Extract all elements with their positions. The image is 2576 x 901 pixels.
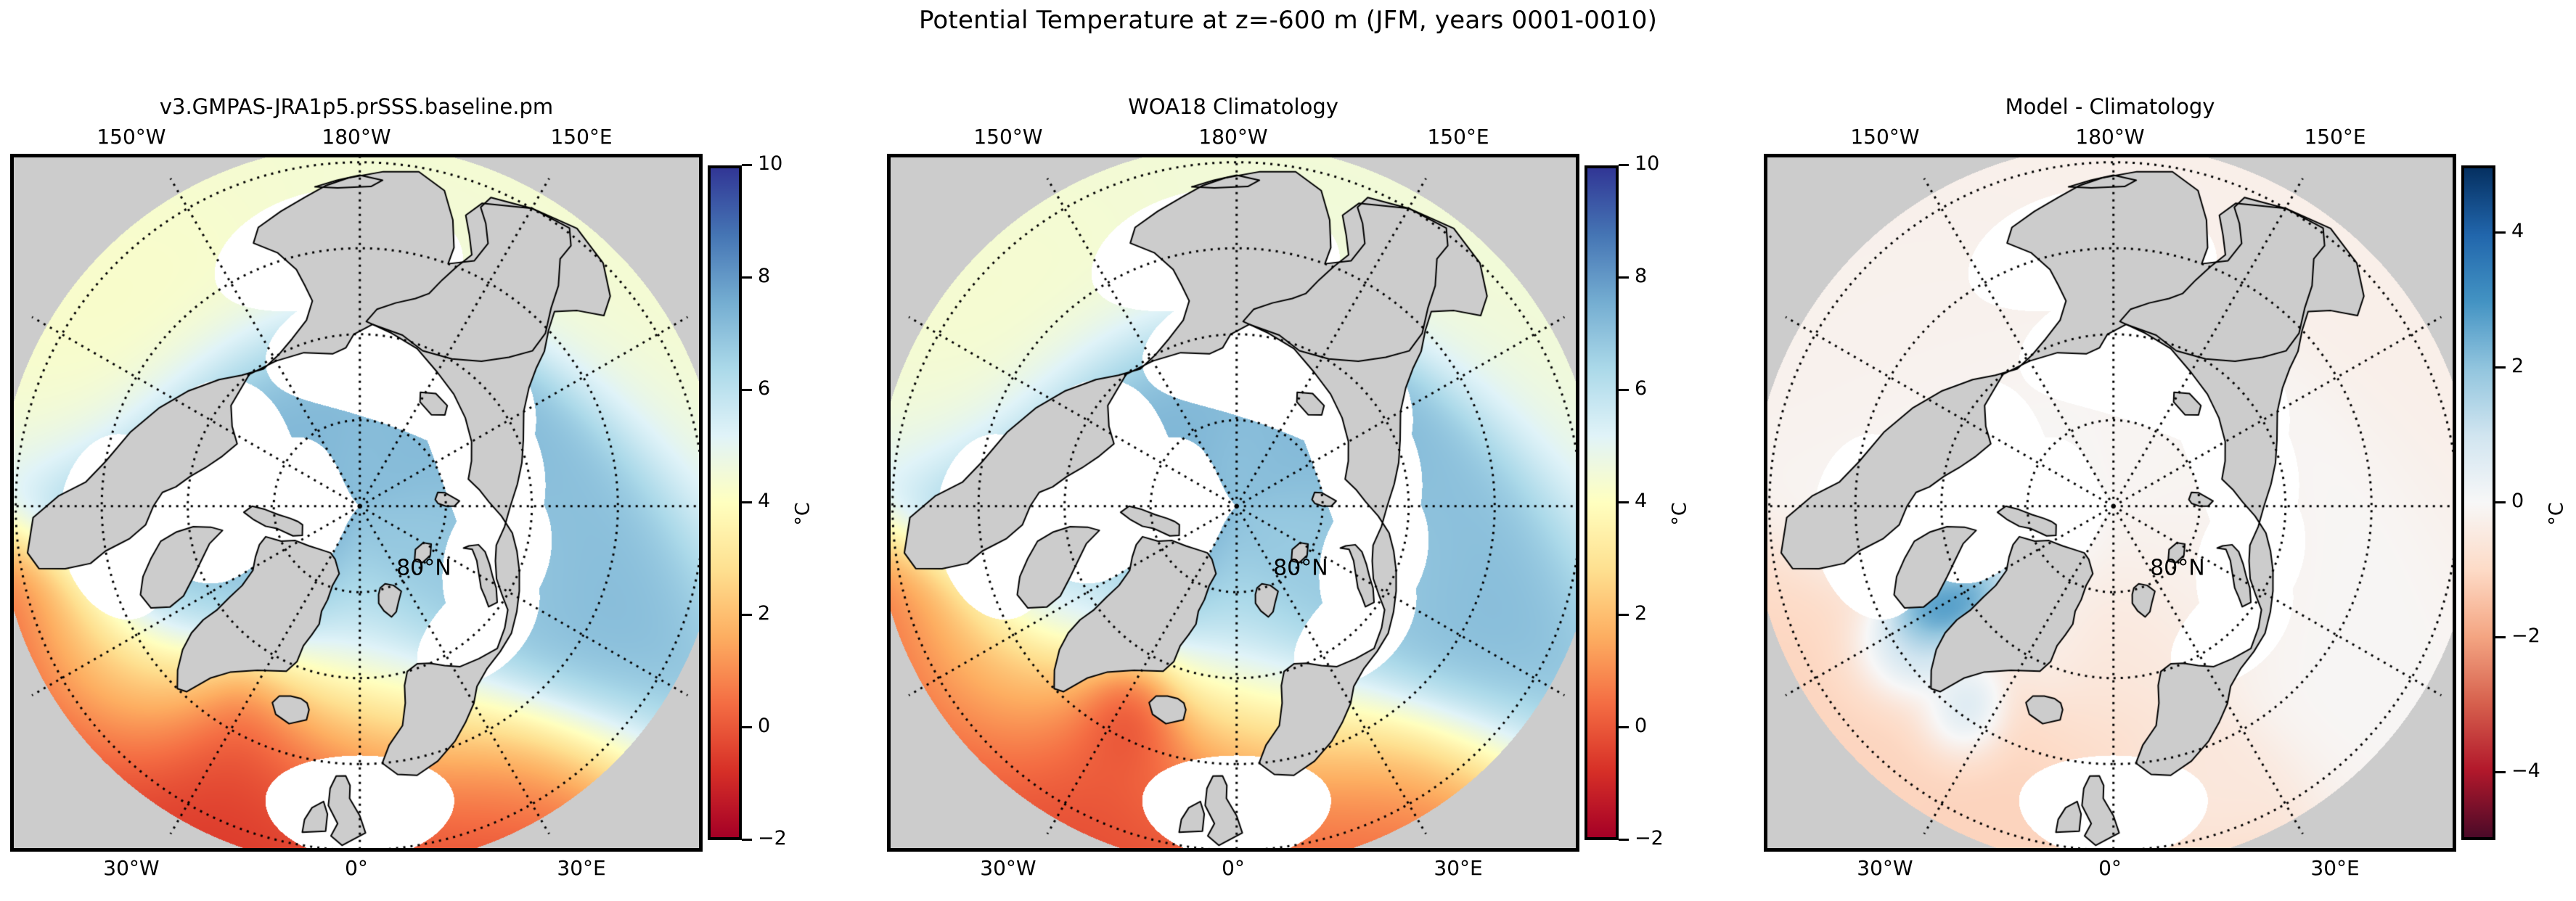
lon-labels-bottom-difference: 30°W 0° 30°E <box>1764 856 2456 881</box>
tick-mark <box>742 164 752 166</box>
tick-mark <box>742 726 752 728</box>
colorbar-ticks-model: −20246810 <box>742 165 829 840</box>
lon-label-30w: 30°W <box>1857 856 1913 880</box>
lon-label-30e: 30°E <box>1434 856 1482 880</box>
colorbar-unit-model: °C <box>792 502 814 525</box>
lon-label-150w: 150°W <box>1850 125 1919 149</box>
tick-mark <box>1619 389 1629 391</box>
lon-labels-top-climatology: 150°W 180°W 150°E <box>887 125 1579 149</box>
lon-label-150e: 150°E <box>2304 125 2366 149</box>
lon-label-180w: 180°W <box>2075 125 2144 149</box>
panel-title-difference: Model - Climatology <box>1764 94 2456 119</box>
lon-labels-bottom-model: 30°W 0° 30°E <box>10 856 703 881</box>
tick-label: 8 <box>1635 265 1647 287</box>
tick-mark <box>1619 276 1629 279</box>
colorbar-difference[interactable] <box>2461 165 2495 840</box>
lon-label-150w: 150°W <box>973 125 1042 149</box>
tick-mark <box>2495 366 2506 369</box>
lon-label-180w: 180°W <box>1198 125 1267 149</box>
colorbar-climatology[interactable] <box>1585 165 1619 840</box>
tick-label: 0 <box>1635 715 1647 737</box>
colorbar-model[interactable] <box>708 165 742 840</box>
tick-label: 10 <box>1635 152 1659 175</box>
tick-mark <box>742 614 752 616</box>
tick-label: 10 <box>758 152 782 175</box>
tick-mark <box>1619 726 1629 728</box>
lon-label-0: 0° <box>1222 856 1245 880</box>
tick-mark <box>2495 771 2506 773</box>
tick-mark <box>742 839 752 841</box>
tick-mark <box>1619 614 1629 616</box>
tick-label: 0 <box>2511 490 2524 512</box>
figure-root: Potential Temperature at z=-600 m (JFM, … <box>0 0 2576 901</box>
tick-label: 4 <box>2511 220 2524 242</box>
tick-label: 2 <box>758 602 770 625</box>
colorbar-unit-difference: °C <box>2546 502 2568 525</box>
lon-label-30e: 30°E <box>557 856 605 880</box>
tick-label: −4 <box>2511 760 2540 782</box>
colorbar-ticks-climatology: −20246810 <box>1619 165 1706 840</box>
panel-title-model: v3.GMPAS-JRA1p5.prSSS.baseline.pm <box>10 94 703 119</box>
lon-label-150w: 150°W <box>97 125 165 149</box>
figure-title: Potential Temperature at z=-600 m (JFM, … <box>0 6 2576 35</box>
tick-mark <box>1619 501 1629 503</box>
map-canvas-difference <box>1767 157 2453 848</box>
tick-mark <box>1619 164 1629 166</box>
tick-label: 4 <box>1635 490 1647 512</box>
tick-mark <box>1619 839 1629 841</box>
lon-label-30e: 30°E <box>2310 856 2359 880</box>
tick-label: 6 <box>1635 377 1647 400</box>
tick-label: 4 <box>758 490 770 512</box>
tick-mark <box>2495 501 2506 503</box>
lon-label-150e: 150°E <box>1427 125 1489 149</box>
tick-label: −2 <box>2511 625 2540 647</box>
colorbar-unit-climatology: °C <box>1669 502 1691 525</box>
map-panel-difference[interactable]: 80°N <box>1764 154 2456 852</box>
tick-label: 8 <box>758 265 770 287</box>
lon-label-30w: 30°W <box>980 856 1036 880</box>
lon-labels-bottom-climatology: 30°W 0° 30°E <box>887 856 1579 881</box>
map-canvas-climatology <box>891 157 1576 848</box>
lon-label-30w: 30°W <box>103 856 159 880</box>
tick-label: 6 <box>758 377 770 400</box>
lon-label-150e: 150°E <box>550 125 612 149</box>
map-panel-model[interactable]: 80°N <box>10 154 703 852</box>
tick-label: 2 <box>2511 355 2524 377</box>
tick-mark <box>742 389 752 391</box>
lon-labels-top-difference: 150°W 180°W 150°E <box>1764 125 2456 149</box>
tick-label: 2 <box>1635 602 1647 625</box>
tick-mark <box>742 276 752 279</box>
tick-label: −2 <box>758 827 787 849</box>
tick-mark <box>742 501 752 503</box>
tick-mark <box>2495 636 2506 638</box>
lon-labels-top-model: 150°W 180°W 150°E <box>10 125 703 149</box>
lon-label-0: 0° <box>2098 856 2122 880</box>
tick-label: −2 <box>1635 827 1664 849</box>
tick-label: 0 <box>758 715 770 737</box>
tick-mark <box>2495 231 2506 234</box>
map-canvas-model <box>14 157 699 848</box>
lon-label-180w: 180°W <box>322 125 391 149</box>
panel-title-climatology: WOA18 Climatology <box>887 94 1579 119</box>
map-panel-climatology[interactable]: 80°N <box>887 154 1579 852</box>
lon-label-0: 0° <box>345 856 368 880</box>
